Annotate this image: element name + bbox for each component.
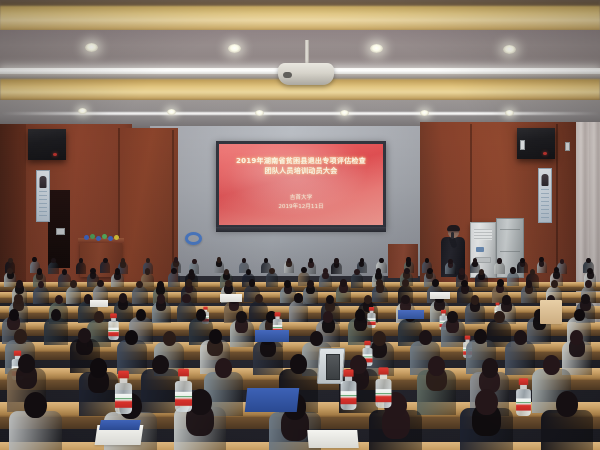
podium-flower-decoration [114,235,119,240]
audience-head [157,294,165,304]
audience-head [121,258,125,263]
audience-head [24,392,47,418]
water-bottle [175,369,192,412]
audience-head [125,330,138,345]
wall-poster-right [538,168,552,223]
audience-head [497,279,504,287]
water-bottle [341,369,357,410]
audience-head [373,331,386,346]
audience-head [402,279,409,287]
presenter-hair [447,225,460,231]
paper-handout [307,430,359,448]
audience-head [246,269,251,275]
water-bottle [108,313,118,340]
audience-head [287,258,291,263]
wall-switch-plate[interactable] [56,228,65,235]
audience-head [290,354,307,374]
bottle-label [175,392,192,406]
audience-head [97,280,104,288]
poster-text-lines [541,189,549,219]
audience-head [482,358,499,378]
audience-head [406,257,410,262]
audience-head [310,331,323,346]
downlight-5 [167,109,176,115]
lecture-hall-photo: 2019年湖南省贫困县退出专项评估检查 团队人员培训动员大会 吉首大学 2019… [0,0,600,450]
notebook-blue [245,388,300,412]
projector-mount-pole [305,40,309,65]
audience-head [182,294,190,304]
audience-head [18,354,35,374]
bottle-cap [118,371,129,379]
downlight-2 [370,44,383,53]
notebook-blue [99,420,141,430]
audience-head [14,329,27,344]
audience-head [8,258,12,263]
audience-body [507,272,520,286]
audience-head [163,331,176,346]
audience-head [145,268,150,274]
poster-figure-icon [542,174,549,186]
audience-head [14,294,22,304]
wall-seam [470,124,472,234]
audience-body [33,286,49,304]
audience-head [479,269,484,275]
audience-body [168,272,181,286]
ac-seam [500,229,520,230]
audience-head [301,267,306,273]
audience-head [428,356,445,376]
audience-head [37,268,42,274]
paper-bag [540,300,562,324]
downlight-1 [228,44,241,53]
audience-head [189,269,194,275]
audience-head [354,269,359,275]
audience-head [171,268,176,274]
audience-body [289,300,308,322]
audience-head [217,257,221,262]
notebook-blue [255,330,289,342]
audience-head [432,279,439,287]
audience-head [269,268,274,274]
audience-head [502,295,510,305]
audience-body [44,318,68,345]
slide-organization: 吉首大学 [219,194,383,203]
wall-speaker-left [28,129,66,160]
audience-head [448,259,452,264]
audience-head [174,257,178,262]
audience-head [189,389,212,415]
ac-seam [500,251,520,252]
audience-head [360,258,364,263]
wall-poster-left [36,170,50,222]
laptop-display [326,354,340,380]
audience-head [586,258,590,263]
audience-head [9,309,19,321]
audience-head [520,258,524,263]
podium-flower-decoration [102,234,107,239]
audience-head [51,309,61,321]
paper-handout [220,294,242,302]
audience-body [351,273,364,287]
audience-body [58,273,71,287]
water-bottle [115,371,132,414]
poster-text-lines [39,191,47,218]
audience-head [427,268,432,274]
paper-handout [90,300,108,307]
bottle-label [108,328,118,337]
slide-title-line1: 2019年湖南省贫困县退出专项评估检查 [236,156,366,165]
downlight-3 [503,45,516,54]
speaker-led-icon [543,152,547,155]
audience-head [307,280,314,288]
audience-head [136,309,146,321]
audience-head [186,279,193,287]
downlight-0 [85,43,98,52]
audience-body [505,341,535,375]
podium-flower-decoration [96,236,101,241]
audience-head [497,258,501,263]
water-bottle [376,367,392,408]
audience-head [419,330,432,345]
projection-screen-bottom-bar [216,227,386,232]
audience-head [115,268,120,274]
audience-head [225,280,232,288]
audience-head [209,329,222,344]
audience-head [284,280,291,288]
downlight-9 [505,110,514,116]
audience-head [574,309,584,321]
audience-head [379,258,383,263]
podium-flower-decoration [90,234,95,239]
audience-body [100,261,110,273]
audience-head [119,293,127,303]
downlight-6 [255,110,264,116]
audience-body [66,286,82,304]
poster-figure-icon [40,176,47,188]
audience-head [192,259,196,264]
audience-head [475,389,498,415]
audience-head [530,269,535,275]
bottle-label [516,398,531,410]
audience-head [90,268,95,274]
audience-head [526,280,533,288]
audience-body [117,340,147,374]
slide-date: 2019年12月11日 [219,203,383,212]
downlight-7 [340,110,349,116]
microphone-icon [451,232,454,239]
audience-head [340,279,347,287]
audience-head [425,258,429,263]
audience-head [401,295,409,305]
audience-head [556,391,579,417]
audience-body [494,262,504,274]
wall-sensor-plate [565,142,570,151]
ac-display-badge [476,247,484,252]
audience-head [78,328,91,343]
blue-wall-clock-icon [185,232,202,245]
bottle-cap [378,367,388,374]
audience-head [224,269,229,275]
audience-head [404,268,409,274]
podium-flower-decoration [84,235,89,240]
notebook-blue [398,310,424,319]
desk-front-0 [0,287,600,291]
bottle-cap [178,369,189,377]
speaker-led-icon [53,153,57,156]
audience-head [103,258,107,263]
audience-head [215,358,232,378]
audience-head [7,268,12,274]
cove-light-upper [0,6,600,32]
audience-head [376,279,383,287]
audience-body [76,262,86,274]
audience-head [459,268,464,274]
audience-head [471,295,479,305]
audience-head [560,259,564,264]
bottle-label [376,389,392,402]
audience-head [376,268,381,274]
wall-sensor-plate [520,140,525,150]
audience-body [266,272,279,286]
audience-body [141,273,154,287]
bottle-label [115,394,132,408]
audience-head [581,294,589,304]
bottle-cap [343,369,353,376]
paper-handout [430,292,450,299]
audience-head [62,269,67,275]
audience-body [132,286,148,304]
bottle-label [341,391,357,404]
downlight-4 [78,108,87,114]
audience-head [90,358,107,378]
downlight-8 [420,110,429,116]
wall-seam [172,130,174,270]
projection-screen: 2019年湖南省贫困县退出专项评估检查 团队人员培训动员大会 吉首大学 2019… [219,144,383,225]
audience-head [514,330,527,345]
audience-head [494,311,504,323]
audience-head [543,355,560,375]
water-bottle [516,378,531,416]
audience-head [585,280,592,288]
audience-head [447,311,457,323]
audience-head [255,294,263,304]
audience-head [157,281,164,289]
slide-title-line2: 团队人员培训动员大会 [219,166,383,176]
bottle-cap [519,378,528,385]
audience-head [152,355,169,375]
audience-head [16,280,23,288]
projector-lens [283,72,292,78]
audience-head [510,267,515,273]
audience-head [249,279,256,287]
slide-subtitle: 吉首大学 2019年12月11日 [219,194,383,212]
audience-head [551,280,558,288]
audience-head [70,280,77,288]
podium-flower-decoration [108,236,113,241]
audience-body [48,262,58,274]
audience-body [141,369,180,413]
slide-title: 2019年湖南省贫困县退出专项评估检查 团队人员培训动员大会 [219,156,383,176]
audience-head [294,293,302,303]
audience-head [587,268,592,274]
ac-grill [474,229,492,240]
audience-head [236,311,246,323]
audience-head [334,258,338,263]
